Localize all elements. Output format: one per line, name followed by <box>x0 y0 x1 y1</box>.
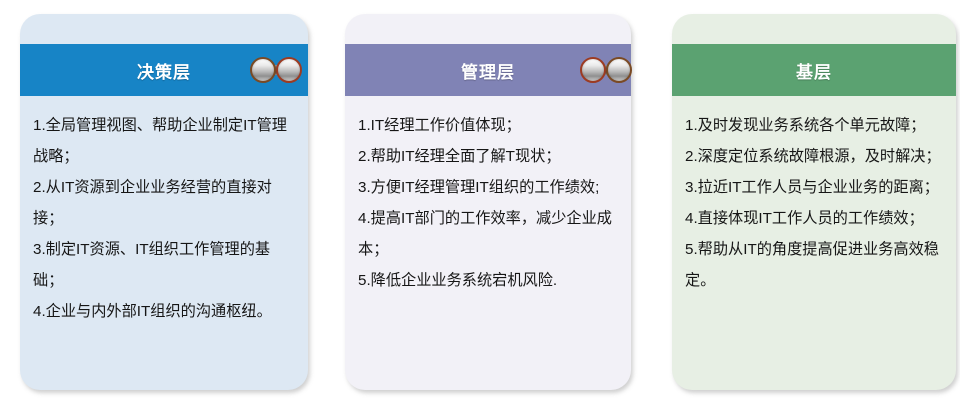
card-title-management-layer: 管理层 <box>461 58 515 83</box>
list-item: 2.帮助IT经理全面了解T现状； <box>358 141 618 172</box>
connector-knob-right-icon <box>606 57 632 83</box>
connector-decision-to-management-icon <box>250 57 302 83</box>
list-item: 2.深度定位系统故障根源，及时解决； <box>685 141 943 172</box>
card-body-base-layer: 1.及时发现业务系统各个单元故障； 2.深度定位系统故障根源，及时解决； 3.拉… <box>672 96 956 390</box>
card-header-base-layer: 基层 <box>672 44 956 96</box>
list-item: 5.帮助从IT的角度提高促进业务高效稳定。 <box>685 234 943 296</box>
list-item: 4.提高IT部门的工作效率，减少企业成本； <box>358 203 618 265</box>
card-base-layer[interactable]: 基层 1.及时发现业务系统各个单元故障； 2.深度定位系统故障根源，及时解决； … <box>672 14 956 390</box>
list-item: 1.IT经理工作价值体现； <box>358 110 618 141</box>
list-item: 3.方便IT经理管理IT组织的工作绩效; <box>358 172 618 203</box>
connector-knob-right-icon <box>276 57 302 83</box>
diagram-canvas: 决策层 1.全局管理视图、帮助企业制定IT管理战略； 2.从IT资源到企业业务经… <box>0 0 960 416</box>
card-body-management-layer: 1.IT经理工作价值体现； 2.帮助IT经理全面了解T现状； 3.方便IT经理管… <box>345 96 631 390</box>
list-item: 1.全局管理视图、帮助企业制定IT管理战略； <box>33 110 295 172</box>
card-title-decision-layer: 决策层 <box>137 58 191 83</box>
connector-knob-left-icon <box>580 57 606 83</box>
list-item: 5.降低企业业务系统宕机风险. <box>358 265 618 296</box>
list-item: 3.制定IT资源、IT组织工作管理的基础； <box>33 234 295 296</box>
list-item: 4.企业与内外部IT组织的沟通枢纽。 <box>33 296 295 327</box>
list-item: 2.从IT资源到企业业务经营的直接对接； <box>33 172 295 234</box>
list-item: 1.及时发现业务系统各个单元故障； <box>685 110 943 141</box>
connector-knob-left-icon <box>250 57 276 83</box>
connector-management-to-base-icon <box>580 57 632 83</box>
list-item: 3.拉近IT工作人员与企业业务的距离； <box>685 172 943 203</box>
card-body-decision-layer: 1.全局管理视图、帮助企业制定IT管理战略； 2.从IT资源到企业业务经营的直接… <box>20 96 308 390</box>
list-item: 4.直接体现IT工作人员的工作绩效； <box>685 203 943 234</box>
card-title-base-layer: 基层 <box>796 58 832 83</box>
